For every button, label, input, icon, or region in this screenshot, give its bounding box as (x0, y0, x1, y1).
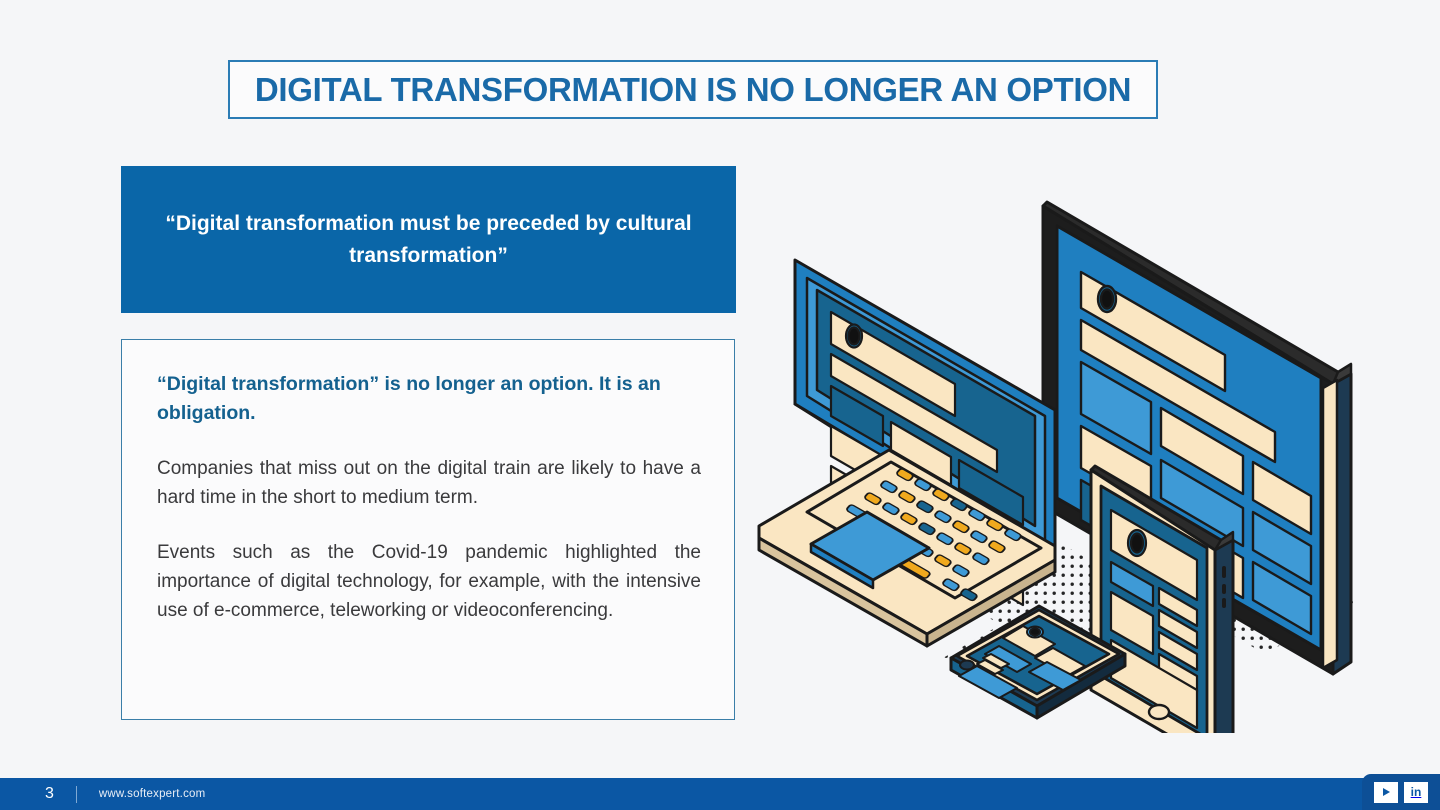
footer-divider (76, 786, 77, 803)
footer-website-link[interactable]: www.softexpert.com (99, 788, 206, 800)
isometric-devices-illustration (755, 168, 1365, 733)
page-title: DIGITAL TRANSFORMATION IS NO LONGER AN O… (255, 71, 1131, 109)
quote-callout-box: “Digital transformation must be preceded… (121, 166, 736, 313)
youtube-icon[interactable] (1374, 782, 1398, 803)
social-links-panel: in (1362, 774, 1440, 810)
quote-text: “Digital transformation must be preceded… (149, 208, 708, 271)
page-number: 3 (45, 785, 54, 803)
body-text-box: “Digital transformation” is no longer an… (121, 339, 735, 720)
body-paragraph-2: Events such as the Covid-19 pandemic hig… (157, 538, 701, 625)
body-paragraph-1: Companies that miss out on the digital t… (157, 454, 701, 512)
linkedin-icon-label: in (1411, 786, 1422, 798)
laptop-graphic (759, 260, 1055, 646)
body-lead-text: “Digital transformation” is no longer an… (157, 370, 701, 428)
slide-title-box: DIGITAL TRANSFORMATION IS NO LONGER AN O… (228, 60, 1158, 119)
footer-bar: 3 www.softexpert.com (0, 778, 1440, 810)
linkedin-icon[interactable]: in (1404, 782, 1428, 803)
